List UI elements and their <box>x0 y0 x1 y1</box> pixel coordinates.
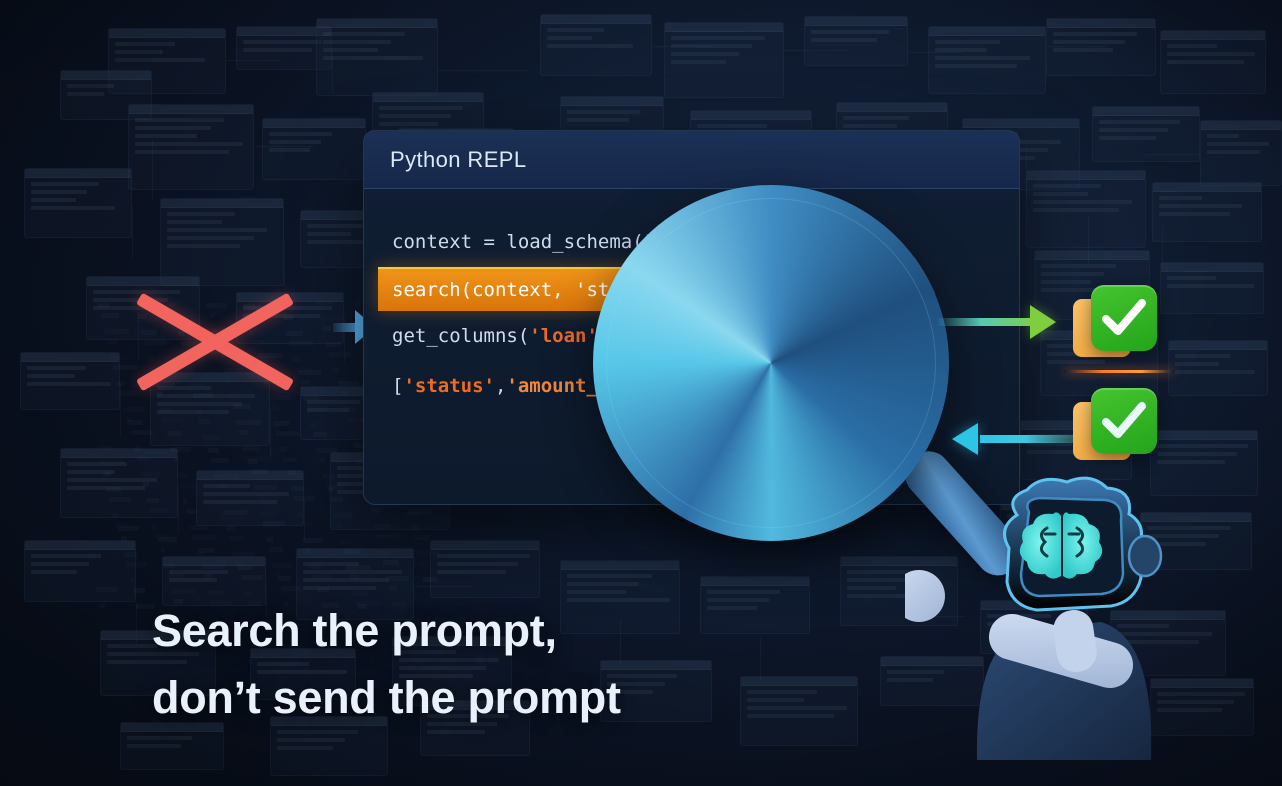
code-fleck <box>162 418 183 423</box>
magnifier-ring <box>593 185 949 541</box>
code-fleck <box>149 508 169 513</box>
code-fleck <box>380 550 389 555</box>
code-fleck <box>341 391 347 396</box>
code-fleck <box>131 430 153 435</box>
code-fleck <box>288 470 295 475</box>
code-fleck <box>306 548 311 553</box>
code-fleck <box>167 573 185 578</box>
schema-connector <box>226 60 280 61</box>
schema-table-card <box>316 18 438 96</box>
code-fleck <box>332 368 339 373</box>
code-fleck <box>122 407 145 412</box>
code-fleck <box>112 513 119 518</box>
code-fleck <box>350 433 355 438</box>
code-fleck <box>98 303 109 308</box>
code-text-arg: 'loan' <box>529 325 598 347</box>
code-fleck <box>202 435 221 440</box>
code-fleck <box>263 521 285 526</box>
code-fleck <box>303 538 323 543</box>
code-fleck <box>319 458 325 463</box>
check-glyph <box>1102 298 1146 338</box>
code-fleck <box>340 539 351 544</box>
code-fleck <box>192 535 217 540</box>
schema-connector <box>270 410 271 460</box>
code-fleck <box>109 497 131 502</box>
code-fleck <box>272 563 293 568</box>
code-text: get_columns( <box>392 325 529 347</box>
code-fleck <box>183 499 187 504</box>
code-fleck <box>121 536 127 541</box>
code-fleck <box>204 574 213 579</box>
code-fleck <box>337 523 341 528</box>
code-fleck <box>99 603 105 608</box>
code-fleck <box>389 586 397 591</box>
robot-shoulder-joint <box>905 570 945 622</box>
code-fleck <box>130 578 135 583</box>
code-fleck <box>343 549 361 554</box>
check-badge-top <box>1073 285 1157 369</box>
code-fleck <box>423 577 437 582</box>
code-fleck <box>298 370 321 375</box>
code-fleck <box>232 552 255 557</box>
code-fleck <box>334 513 353 518</box>
code-fleck <box>282 457 297 462</box>
schema-connector <box>908 52 962 53</box>
code-fleck <box>134 446 141 451</box>
code-fleck <box>96 587 117 592</box>
code-fleck <box>177 473 189 478</box>
code-fleck <box>133 588 145 593</box>
code-fleck <box>317 300 333 305</box>
code-fleck <box>297 512 303 517</box>
code-bracket-open: [ <box>392 375 403 397</box>
page-title: Python REPL <box>390 147 526 173</box>
code-fleck <box>304 396 319 401</box>
schema-connector <box>254 146 314 147</box>
code-fleck <box>161 547 165 552</box>
code-fleck <box>322 474 335 479</box>
code-fleck <box>226 526 235 531</box>
code-fleck <box>103 471 111 476</box>
code-fleck <box>318 587 329 592</box>
code-fleck <box>223 510 247 515</box>
schema-table-card <box>196 470 304 526</box>
code-fleck <box>383 560 399 565</box>
code-fleck <box>313 432 327 437</box>
code-comma: , <box>495 375 506 397</box>
schema-connector <box>784 50 850 51</box>
code-fleck <box>156 392 163 397</box>
code-fleck <box>352 591 369 596</box>
schema-table-card <box>1026 170 1146 248</box>
schema-table-card <box>804 16 908 66</box>
code-fleck <box>276 431 299 436</box>
code-fleck <box>118 526 139 531</box>
code-fleck <box>377 534 401 539</box>
code-fleck <box>371 508 381 513</box>
schema-connector <box>178 486 179 532</box>
code-fleck <box>239 430 249 435</box>
arrow-left-icon-from-check-bottom <box>952 423 1080 455</box>
headline-line-1: Search the prompt, <box>152 598 792 665</box>
code-fleck <box>323 326 331 331</box>
code-fleck <box>267 395 291 400</box>
code-fleck <box>113 365 137 370</box>
code-fleck <box>211 458 229 463</box>
check-glyph <box>1102 401 1146 441</box>
code-fleck <box>349 575 359 580</box>
code-fleck <box>146 498 159 503</box>
code-fleck <box>331 497 343 502</box>
schema-connector <box>652 46 712 47</box>
schema-table-card <box>540 14 652 76</box>
schema-table-card <box>1152 182 1262 242</box>
code-fleck <box>180 483 199 488</box>
check-badge-bottom <box>1073 388 1157 472</box>
code-fleck <box>278 576 291 581</box>
schema-connector <box>152 140 153 200</box>
code-fleck <box>119 391 135 396</box>
code-fleck <box>281 586 301 591</box>
code-fleck <box>260 511 275 516</box>
code-fleck <box>196 409 201 414</box>
code-fleck <box>417 551 439 556</box>
arrow-right-icon-to-check-top <box>938 305 1060 339</box>
schema-connector <box>1026 148 1027 196</box>
code-fleck <box>171 447 191 452</box>
code-fleck <box>128 420 143 425</box>
schema-connector <box>332 52 333 94</box>
code-fleck <box>414 535 429 540</box>
panel-title-bar: Python REPL <box>364 131 1019 189</box>
code-fleck <box>137 456 151 461</box>
code-fleck <box>116 381 125 386</box>
code-value-status: 'status' <box>403 375 495 397</box>
code-fleck <box>309 564 321 569</box>
code-fleck <box>408 509 431 514</box>
code-fleck <box>124 552 137 557</box>
code-fleck <box>164 563 175 568</box>
code-fleck <box>110 355 127 360</box>
code-fleck <box>208 448 219 453</box>
code-fleck <box>248 459 257 464</box>
code-fleck <box>159 408 173 413</box>
code-fleck <box>386 576 409 581</box>
headline: Search the prompt, don’t send the prompt <box>152 598 792 731</box>
robot-ear-module <box>1129 536 1161 576</box>
code-fleck <box>310 422 317 427</box>
check-icon <box>1091 285 1157 351</box>
code-fleck <box>217 484 227 489</box>
code-fleck <box>170 589 195 594</box>
code-fleck <box>344 407 357 412</box>
schema-table-card <box>160 198 284 286</box>
code-fleck <box>292 357 301 362</box>
schema-table-card <box>128 104 254 190</box>
code-fleck <box>207 590 223 595</box>
code-fleck <box>140 472 161 477</box>
code-fleck <box>229 536 245 541</box>
schema-connector <box>1088 216 1089 264</box>
code-fleck <box>251 469 267 474</box>
code-fleck <box>254 485 277 490</box>
code-fleck <box>316 448 337 453</box>
code-fleck <box>329 352 351 357</box>
check-icon <box>1091 388 1157 454</box>
code-fleck <box>328 487 333 492</box>
schema-connector <box>1162 226 1163 268</box>
headline-line-2: don’t send the prompt <box>152 665 792 732</box>
schema-table-card <box>928 26 1046 94</box>
code-fleck <box>338 381 359 386</box>
code-fleck <box>354 301 361 306</box>
code-fleck <box>100 461 123 466</box>
code-fleck <box>199 419 211 424</box>
code-fleck <box>374 524 391 529</box>
code-fleck <box>307 406 329 411</box>
code-fleck <box>312 574 331 579</box>
code-fleck <box>289 341 313 346</box>
schema-table-card <box>1160 262 1264 314</box>
code-fleck <box>300 522 313 527</box>
code-fleck <box>127 562 147 567</box>
code-fleck <box>257 495 265 500</box>
code-fleck <box>201 564 225 569</box>
code-fleck <box>168 431 181 436</box>
code-fleck <box>411 525 419 530</box>
code-fleck <box>193 393 213 398</box>
orange-rule-divider <box>1064 370 1174 373</box>
code-fleck <box>241 575 263 580</box>
schema-connector <box>304 498 305 540</box>
schema-table-card <box>24 540 136 602</box>
schema-connector <box>132 206 133 258</box>
code-fleck <box>152 524 157 529</box>
schema-connector <box>1146 154 1200 155</box>
code-fleck <box>174 457 179 462</box>
code-fleck <box>143 482 149 487</box>
code-fleck <box>420 561 427 566</box>
robot-mascot <box>905 470 1205 770</box>
schema-connector <box>284 240 285 286</box>
schema-table-card <box>1168 340 1268 396</box>
code-fleck <box>189 525 207 530</box>
code-fleck <box>230 394 241 399</box>
code-fleck <box>97 445 113 450</box>
code-fleck <box>233 404 251 409</box>
code-fleck <box>186 509 197 514</box>
code-fleck <box>101 313 119 318</box>
schema-table-card <box>20 352 120 410</box>
schema-table-card <box>430 540 540 598</box>
code-fleck <box>220 500 237 505</box>
code-fleck <box>346 565 371 570</box>
code-fleck <box>273 421 289 426</box>
code-fleck <box>301 380 309 385</box>
code-fleck <box>242 446 259 451</box>
schema-table-card <box>262 118 366 180</box>
code-fleck <box>106 487 121 492</box>
code-fleck <box>104 329 129 334</box>
code-fleck <box>238 565 253 570</box>
code-fleck <box>294 496 315 501</box>
schema-table-card <box>1200 120 1282 186</box>
close-x-icon <box>140 292 290 392</box>
schema-connector <box>414 586 472 587</box>
code-fleck <box>270 405 279 410</box>
magnifier[interactable]: ("loan") ("loan + status') Seanrd", ['sa… <box>593 185 949 541</box>
schema-table-card <box>664 22 784 98</box>
schema-connector <box>1046 46 1108 47</box>
code-fleck <box>107 339 117 344</box>
schema-table-card <box>24 168 132 238</box>
code-fleck <box>236 420 261 425</box>
code-fleck <box>214 474 239 479</box>
code-fleck <box>279 447 287 452</box>
code-fleck <box>244 591 251 596</box>
code-fleck <box>269 547 283 552</box>
schema-table-card <box>1046 18 1156 76</box>
schema-table-card <box>1160 30 1266 94</box>
schema-connector <box>438 70 528 71</box>
poster-canvas: Python REPL context = load_schema("loan"… <box>0 0 1282 786</box>
code-fleck <box>158 537 177 542</box>
code-fleck <box>291 486 305 491</box>
code-fleck <box>266 537 273 542</box>
code-fleck <box>198 548 215 553</box>
